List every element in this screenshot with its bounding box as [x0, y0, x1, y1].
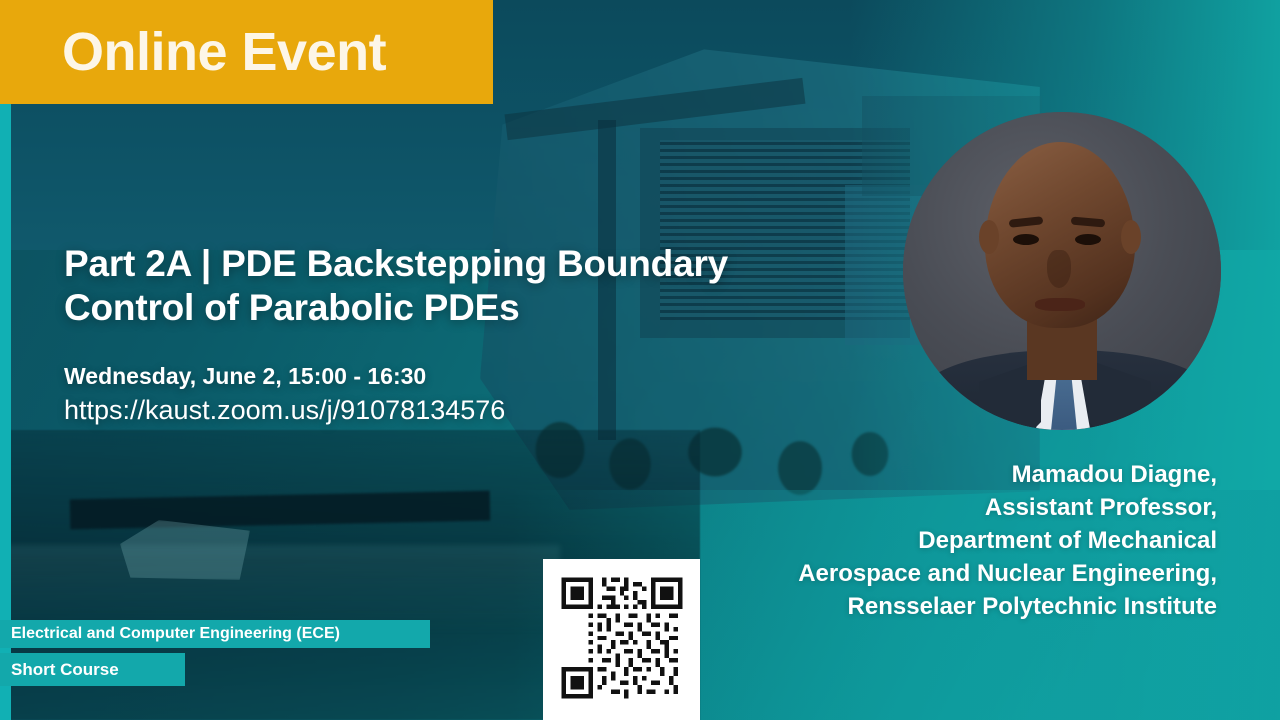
event-poster: Online Event Part 2A | PDE Backstepping … [0, 0, 1280, 720]
tag-short-course-label: Short Course [11, 660, 119, 680]
portrait-mouth [1035, 298, 1085, 311]
tag-short-course: Short Course [0, 653, 185, 686]
tag-ece: Electrical and Computer Engineering (ECE… [0, 620, 430, 648]
portrait-ear-left [979, 220, 999, 254]
portrait-eye-right [1075, 234, 1101, 245]
portrait-ear-right [1121, 220, 1141, 254]
online-event-label: Online Event [62, 25, 386, 79]
event-title-line-1: Part 2A | PDE Backstepping Boundary [64, 242, 894, 286]
portrait-eye-left [1013, 234, 1039, 245]
event-datetime: Wednesday, June 2, 15:00 - 16:30 [64, 362, 764, 391]
speaker-line-name: Mamadou Diagne, [597, 458, 1217, 491]
speaker-line-department: Department of Mechanical [597, 524, 1217, 557]
online-event-banner: Online Event [0, 0, 493, 104]
tag-ece-label: Electrical and Computer Engineering (ECE… [11, 625, 340, 643]
qr-code-panel[interactable] [543, 559, 700, 720]
portrait-nose [1047, 250, 1071, 288]
event-title-block: Part 2A | PDE Backstepping Boundary Cont… [64, 242, 894, 329]
speaker-line-role: Assistant Professor, [597, 491, 1217, 524]
qr-code-icon[interactable] [557, 573, 687, 703]
event-title-line-2: Control of Parabolic PDEs [64, 286, 894, 330]
speaker-portrait [903, 112, 1221, 430]
event-meta-block: Wednesday, June 2, 15:00 - 16:30 https:/… [64, 362, 764, 428]
event-zoom-link[interactable]: https://kaust.zoom.us/j/91078134576 [64, 393, 764, 428]
